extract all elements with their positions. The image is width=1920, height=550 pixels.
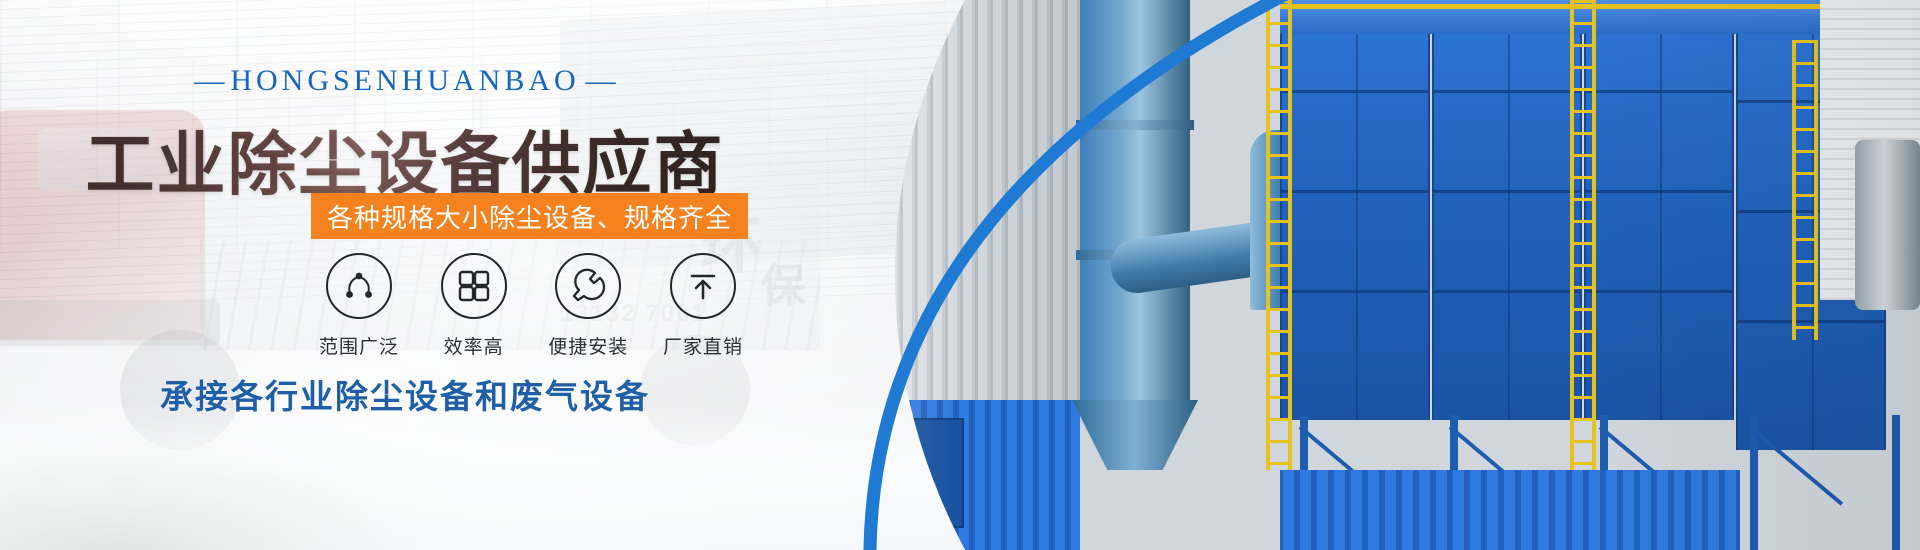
equipment-photo-inner — [780, 0, 1920, 550]
feature-item-factory-direct[interactable]: 厂家直销 — [655, 253, 751, 359]
eyebrow-dash-right: — — [580, 64, 622, 97]
hero-banner: 环 保 13132 7001 — [0, 0, 1920, 550]
feature-item-scope[interactable]: 范围广泛 — [311, 253, 407, 359]
hero-content: —HONGSENHUANBAO— 工业除尘设备供应商 各种规格大小除尘设备、规格… — [0, 0, 860, 550]
feature-item-efficiency[interactable]: 效率高 — [426, 253, 522, 359]
feature-list: 范围广泛 效率高 — [311, 253, 751, 359]
feature-label: 厂家直销 — [663, 332, 743, 359]
eyebrow-text: HONGSENHUANBAO — [230, 64, 579, 97]
tagline: 承接各行业除尘设备和废气设备 — [0, 370, 810, 418]
feature-label: 范围广泛 — [319, 332, 399, 359]
upload-arrow-icon — [670, 253, 736, 319]
photo-shading-overlay — [780, 0, 1920, 550]
grid-four-squares-icon — [441, 253, 507, 319]
feature-label: 效率高 — [444, 332, 504, 359]
wrench-spanner-icon — [555, 253, 621, 319]
feature-item-installation[interactable]: 便捷安装 — [540, 253, 636, 359]
scope-nodes-icon — [326, 253, 392, 319]
feature-label: 便捷安装 — [548, 332, 628, 359]
highlight-badge: 各种规格大小除尘设备、规格齐全 — [311, 193, 748, 239]
highlight-badge-label: 各种规格大小除尘设备、规格齐全 — [327, 198, 732, 235]
equipment-photo — [780, 0, 1920, 550]
eyebrow-dash-left: — — [188, 64, 230, 97]
brand-eyebrow: —HONGSENHUANBAO— — [0, 64, 810, 98]
